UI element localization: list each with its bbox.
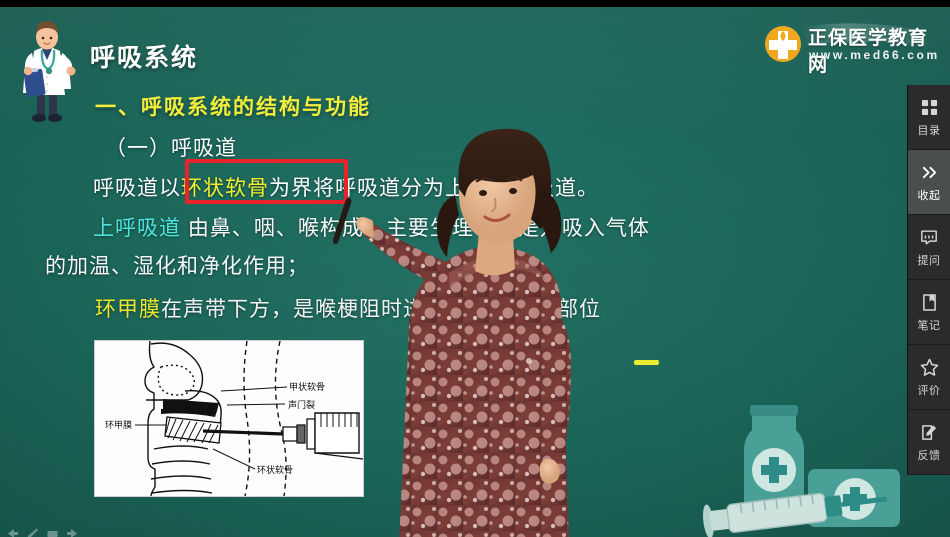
sidebar-item-ask[interactable]: 提问 [908,215,950,280]
cricothyroid-puncture-diagram: 甲状软骨 声门裂 环甲膜 环状软骨 [94,340,364,497]
lecture-video-screen: 正保医学教育网 www.med66.com 呼吸系统 一、呼吸系统的结构与功能 … [0,0,950,537]
sidebar-label-feedback: 反馈 [918,447,941,463]
sidebar-item-catalog[interactable]: 目录 [908,85,950,150]
sidebar-item-notes[interactable]: 笔记 [908,280,950,345]
sidebar-label-rating: 评价 [918,382,941,398]
sidebar-label-catalog: 目录 [918,122,941,138]
grid-icon [921,96,938,118]
chevron-double-right-icon [920,161,939,183]
sidebar-item-collapse[interactable]: 收起 [908,150,950,215]
sidebar-item-rating[interactable]: 评价 [908,345,950,410]
top-black-bar [0,0,950,7]
eraser-icon[interactable] [46,527,59,537]
medical-decor-illustration [690,405,905,537]
label-cricothyroid-membrane: 环甲膜 [105,420,132,430]
slide-section-heading: 一、呼吸系统的结构与功能 [95,91,371,121]
redo-arrow-icon[interactable] [66,527,79,537]
sidebar-label-ask: 提问 [918,252,941,268]
red-annotation-box [185,159,348,204]
label-cricoid-cartilage: 环状软骨 [257,464,293,475]
note-book-icon [922,291,937,313]
slide-line-5-highlight: 环甲膜 [95,298,161,321]
pen-icon[interactable] [26,527,39,537]
star-icon [920,356,939,378]
chat-bubble-icon [920,226,938,248]
brand-url: www.med66.com [809,48,940,62]
slide-line-2-prefix: 呼吸道以 [93,177,181,200]
slide-line-3-highlight: 上呼吸道 [93,217,181,240]
label-thyroid-cartilage: 甲状软骨 [289,381,325,392]
label-glottic-fissure: 声门裂 [288,399,315,410]
slide-line-1: （一）呼吸道 [105,132,237,162]
annotation-toolbar[interactable] [6,525,78,537]
brand-logo: 正保医学教育网 www.med66.com [762,21,937,69]
edit-square-icon [921,421,938,443]
right-sidebar: 目录 收起 提问 [907,85,950,475]
sidebar-label-notes: 笔记 [918,317,941,333]
sidebar-label-collapse: 收起 [918,187,941,203]
page-title: 呼吸系统 [90,38,198,74]
doctor-mascot-illustration [12,15,82,127]
slide-board: 正保医学教育网 www.med66.com 呼吸系统 一、呼吸系统的结构与功能 … [0,7,950,537]
slide-line-4: 的加温、湿化和净化作用； [45,250,309,280]
undo-arrow-icon[interactable] [6,527,19,537]
sidebar-item-feedback[interactable]: 反馈 [908,410,950,475]
yellow-annotation-dash [634,360,659,365]
presenter-person [333,115,633,537]
